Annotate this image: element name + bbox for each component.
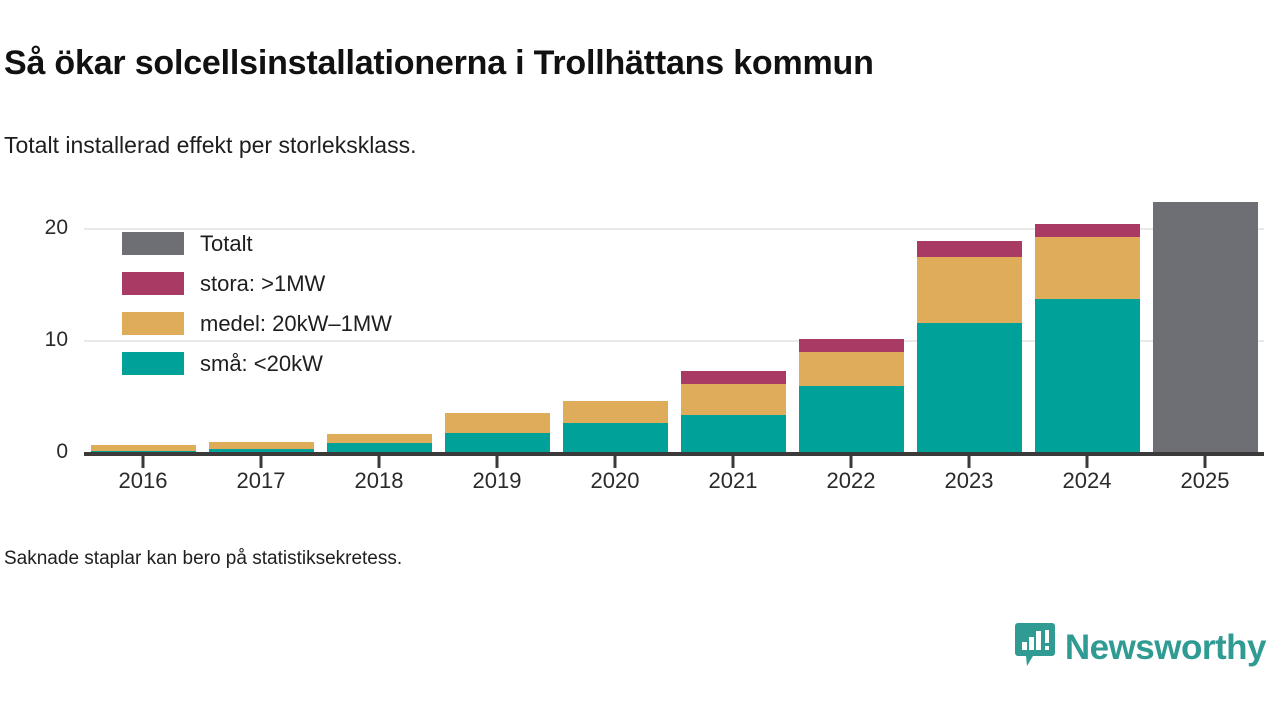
x-axis-tick-label: 2023 — [945, 468, 994, 494]
legend-label: medel: 20kW–1MW — [200, 311, 392, 337]
legend-label: stora: >1MW — [200, 271, 325, 297]
newsworthy-logo: Newsworthy — [1015, 622, 1266, 673]
x-axis-tick-mark — [142, 456, 145, 468]
bar-segment-small[interactable] — [1035, 299, 1140, 452]
bar-segment-small[interactable] — [681, 415, 786, 452]
bar-segment-medium[interactable] — [445, 413, 550, 433]
y-axis-tick-label: 20 — [45, 216, 68, 240]
bar-segment-medium[interactable] — [917, 257, 1022, 323]
bar-group[interactable] — [917, 241, 1022, 452]
brand-name: Newsworthy — [1065, 628, 1266, 668]
bar-segment-large[interactable] — [681, 371, 786, 383]
bar-segment-medium[interactable] — [563, 401, 668, 423]
x-axis-tick-label: 2016 — [119, 468, 168, 494]
bar-segment-small[interactable] — [563, 423, 668, 452]
x-axis-tick-label: 2019 — [473, 468, 522, 494]
legend-item[interactable]: stora: >1MW — [122, 272, 392, 295]
bar-group[interactable] — [1153, 202, 1258, 452]
bar-segment-large[interactable] — [1035, 224, 1140, 237]
bar-group[interactable] — [681, 371, 786, 452]
x-axis-tick-label: 2025 — [1181, 468, 1230, 494]
bar-group[interactable] — [799, 339, 904, 452]
bar-group[interactable] — [1035, 224, 1140, 452]
bar-segment-total[interactable] — [1153, 202, 1258, 452]
x-axis-tick-label: 2022 — [827, 468, 876, 494]
legend-label: Totalt — [200, 231, 253, 257]
bar-group[interactable] — [327, 434, 432, 452]
bar-segment-medium[interactable] — [799, 352, 904, 386]
page-title: Så ökar solcellsinstallationerna i Troll… — [4, 44, 874, 83]
y-axis-tick-label: 10 — [45, 328, 68, 352]
legend-swatch — [122, 272, 184, 295]
bar-group[interactable] — [445, 413, 550, 452]
legend-item[interactable]: medel: 20kW–1MW — [122, 312, 392, 335]
bar-segment-small[interactable] — [799, 386, 904, 452]
bar-group[interactable] — [563, 401, 668, 453]
bar-segment-medium[interactable] — [327, 434, 432, 443]
bar-chart-speech-bubble-icon — [1015, 622, 1055, 673]
x-axis-tick-label: 2021 — [709, 468, 758, 494]
x-axis-tick-label: 2017 — [237, 468, 286, 494]
x-axis-tick-mark — [732, 456, 735, 468]
chart-page: Så ökar solcellsinstallationerna i Troll… — [0, 0, 1280, 720]
bar-segment-medium[interactable] — [681, 384, 786, 415]
y-axis-tick-label: 0 — [56, 440, 68, 464]
x-axis-tick-mark — [614, 456, 617, 468]
x-axis-tick-label: 2020 — [591, 468, 640, 494]
bar-segment-small[interactable] — [445, 433, 550, 452]
legend-swatch — [122, 312, 184, 335]
bar-segment-small[interactable] — [327, 443, 432, 452]
x-axis-tick-mark — [378, 456, 381, 468]
bar-segment-small[interactable] — [917, 323, 1022, 452]
chart-legend: Totaltstora: >1MWmedel: 20kW–1MWsmå: <20… — [122, 232, 392, 375]
bar-segment-medium[interactable] — [209, 442, 314, 449]
x-axis-tick-mark — [1204, 456, 1207, 468]
legend-swatch — [122, 352, 184, 375]
x-axis-tick-mark — [260, 456, 263, 468]
x-axis-tick-label: 2024 — [1063, 468, 1112, 494]
bar-group[interactable] — [209, 442, 314, 452]
bar-segment-medium[interactable] — [1035, 237, 1140, 299]
x-axis-tick-mark — [496, 456, 499, 468]
x-axis-tick-mark — [968, 456, 971, 468]
legend-item[interactable]: Totalt — [122, 232, 392, 255]
page-subtitle: Totalt installerad effekt per storlekskl… — [4, 132, 416, 159]
bar-group[interactable] — [91, 445, 196, 452]
bar-segment-large[interactable] — [799, 339, 904, 352]
x-axis-tick-mark — [1086, 456, 1089, 468]
legend-label: små: <20kW — [200, 351, 323, 377]
footnote: Saknade staplar kan bero på statistiksek… — [4, 548, 402, 570]
x-axis-tick-label: 2018 — [355, 468, 404, 494]
bar-segment-large[interactable] — [917, 241, 1022, 257]
x-axis-tick-mark — [850, 456, 853, 468]
legend-swatch — [122, 232, 184, 255]
legend-item[interactable]: små: <20kW — [122, 352, 392, 375]
